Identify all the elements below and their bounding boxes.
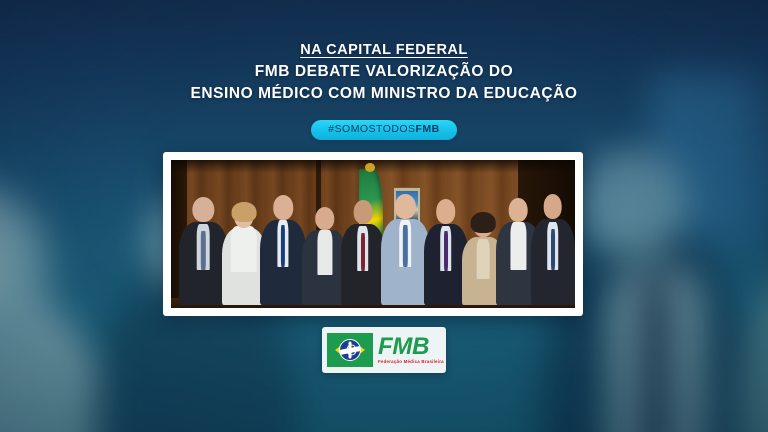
photo-person xyxy=(341,193,385,305)
fmb-logo: FMB Federação Médica Brasileira xyxy=(322,327,446,373)
hashtag-suffix: FMB xyxy=(416,123,440,135)
headline-line-2: FMB DEBATE VALORIZAÇÃO DO xyxy=(0,61,768,83)
hashtag-badge-container: #SOMOSTODOSFMB xyxy=(0,119,768,140)
photo-flag-finial xyxy=(365,163,376,172)
headline-block: NA CAPITAL FEDERAL FMB DEBATE VALORIZAÇÃ… xyxy=(0,40,768,105)
social-post-canvas: NA CAPITAL FEDERAL FMB DEBATE VALORIZAÇÃ… xyxy=(0,0,768,432)
headline-line-3: ENSINO MÉDICO COM MINISTRO DA EDUCAÇÃO xyxy=(0,83,768,105)
photo-person xyxy=(531,187,575,305)
hashtag-badge: #SOMOSTODOSFMB xyxy=(311,120,456,140)
photo-person xyxy=(381,187,429,305)
photo-person xyxy=(179,190,227,305)
headline-line-1: NA CAPITAL FEDERAL xyxy=(0,40,768,61)
caduceus-icon xyxy=(349,342,352,359)
photo-card xyxy=(163,152,583,316)
group-photo xyxy=(171,160,575,308)
logo-brand-text: FMB xyxy=(378,335,444,359)
photo-person xyxy=(260,187,306,305)
logo-tagline-text: Federação Médica Brasileira xyxy=(378,360,444,364)
brazil-flag-icon xyxy=(327,333,373,367)
logo-wordmark: FMB Federação Médica Brasileira xyxy=(378,335,444,364)
hashtag-prefix: #SOMOSTODOS xyxy=(328,123,415,135)
flag-globe-icon xyxy=(339,339,361,361)
